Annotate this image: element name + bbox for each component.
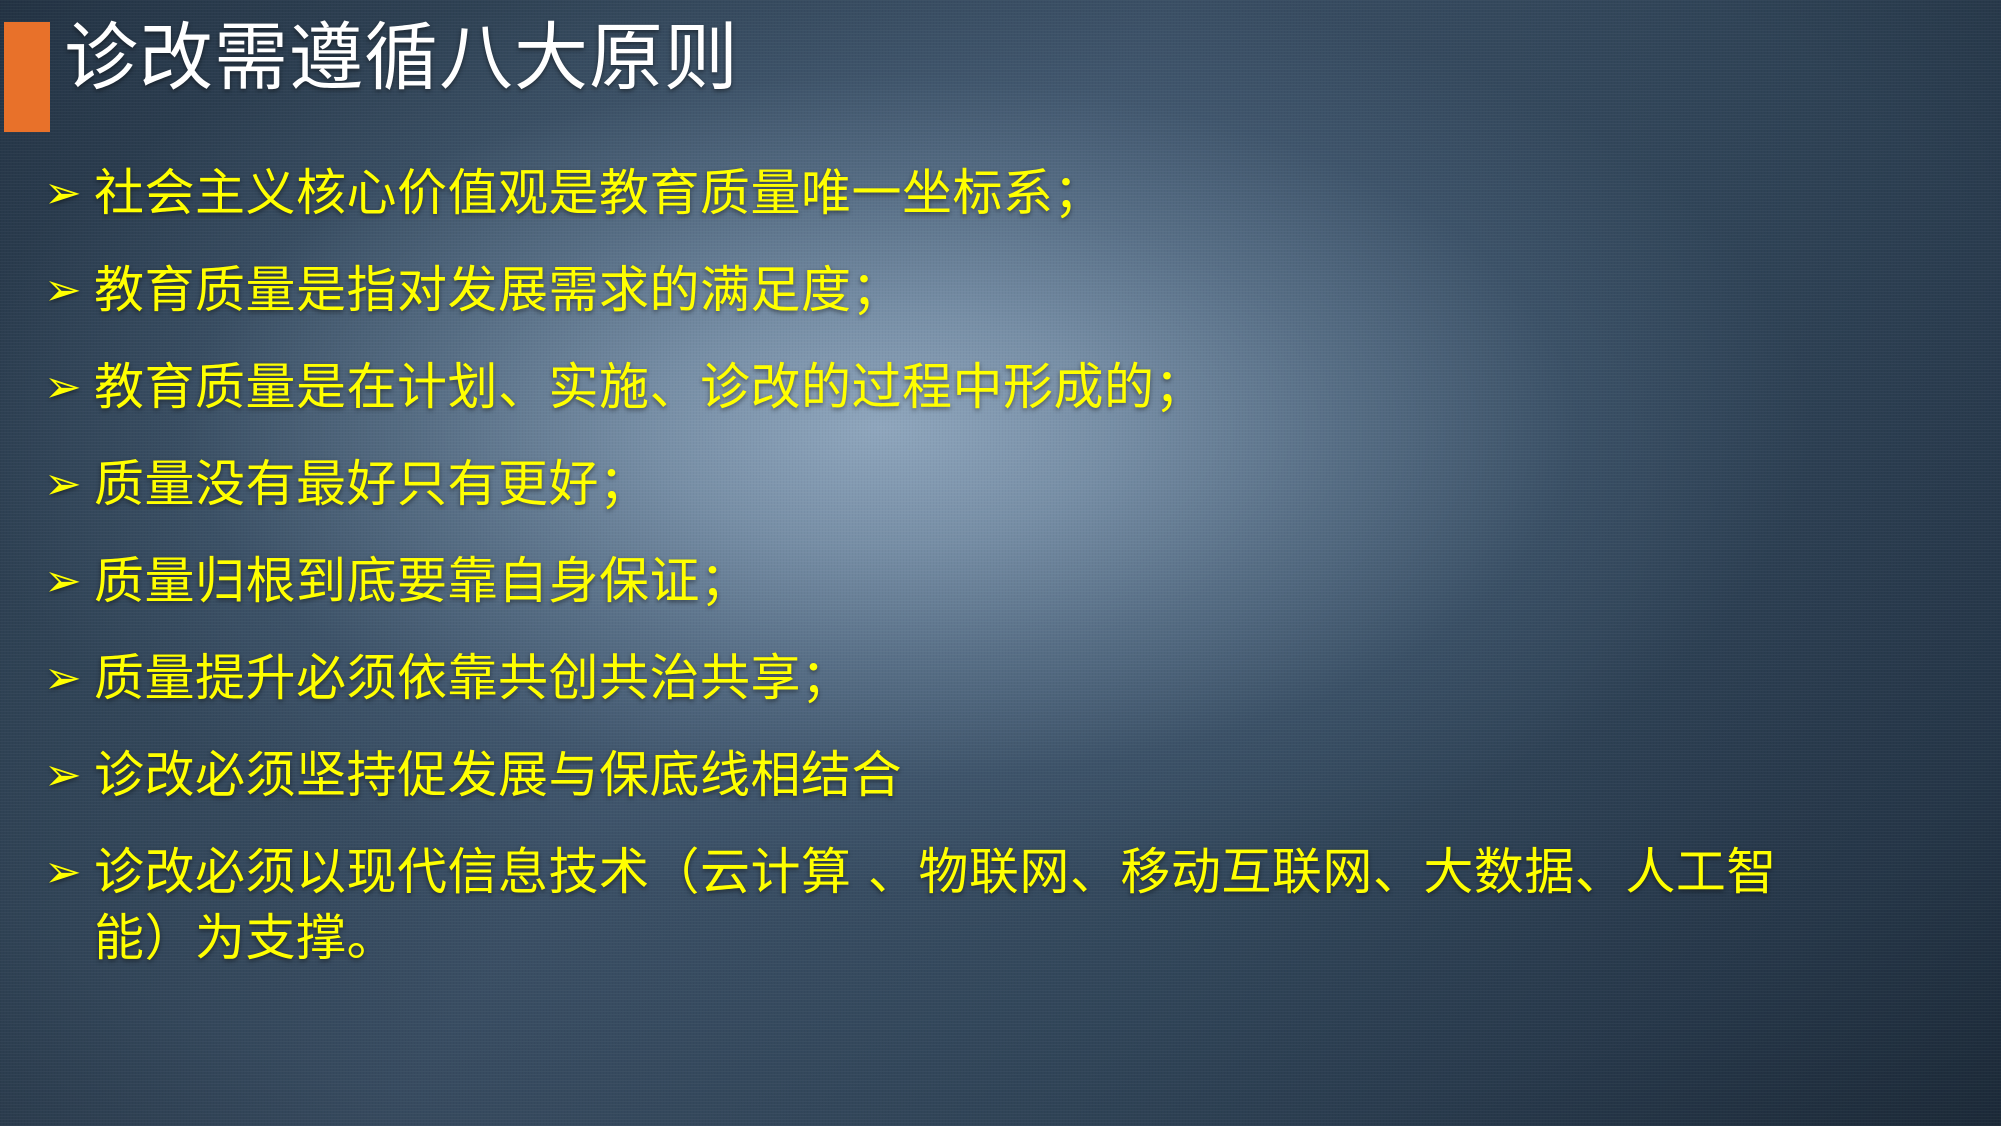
title-accent-bar xyxy=(4,22,50,132)
arrow-bullet-icon: ➢ xyxy=(38,160,94,226)
list-item-label: 质量提升必须依靠共创共治共享； xyxy=(94,645,1971,711)
arrow-bullet-icon: ➢ xyxy=(38,645,94,711)
bullet-list: ➢ 社会主义核心价值观是教育质量唯一坐标系； ➢ 教育质量是指对发展需求的满足度… xyxy=(38,160,1971,1002)
presentation-slide: 诊改需遵循八大原则 ➢ 社会主义核心价值观是教育质量唯一坐标系； ➢ 教育质量是… xyxy=(0,0,2001,1126)
page-title: 诊改需遵循八大原则 xyxy=(64,17,739,100)
list-item-label: 社会主义核心价值观是教育质量唯一坐标系； xyxy=(94,160,1971,226)
list-item: ➢ 教育质量是在计划、实施、诊改的过程中形成的； xyxy=(38,354,1971,420)
arrow-bullet-icon: ➢ xyxy=(38,451,94,517)
list-item-label: 诊改必须以现代信息技术（云计算 、物联网、移动互联网、大数据、人工智 能）为支撑… xyxy=(94,839,1971,971)
arrow-bullet-icon: ➢ xyxy=(38,354,94,420)
list-item-label: 教育质量是指对发展需求的满足度； xyxy=(94,257,1971,323)
list-item-label: 诊改必须坚持促发展与保底线相结合 xyxy=(94,742,1971,808)
arrow-bullet-icon: ➢ xyxy=(38,548,94,614)
list-item-label: 质量没有最好只有更好； xyxy=(94,451,1971,517)
arrow-bullet-icon: ➢ xyxy=(38,257,94,323)
list-item-label: 质量归根到底要靠自身保证； xyxy=(94,548,1971,614)
arrow-bullet-icon: ➢ xyxy=(38,742,94,808)
list-item: ➢ 教育质量是指对发展需求的满足度； xyxy=(38,257,1971,323)
list-item: ➢ 诊改必须以现代信息技术（云计算 、物联网、移动互联网、大数据、人工智 能）为… xyxy=(38,839,1971,971)
list-item: ➢ 诊改必须坚持促发展与保底线相结合 xyxy=(38,742,1971,808)
list-item: ➢ 质量提升必须依靠共创共治共享； xyxy=(38,645,1971,711)
list-item: ➢ 社会主义核心价值观是教育质量唯一坐标系； xyxy=(38,160,1971,226)
list-item-label-line2: 能）为支撑。 xyxy=(94,905,1971,971)
list-item-label: 教育质量是在计划、实施、诊改的过程中形成的； xyxy=(94,354,1971,420)
list-item-label-line1: 诊改必须以现代信息技术（云计算 、物联网、移动互联网、大数据、人工智 xyxy=(94,843,1777,901)
list-item: ➢ 质量归根到底要靠自身保证； xyxy=(38,548,1971,614)
arrow-bullet-icon: ➢ xyxy=(38,839,94,905)
list-item: ➢ 质量没有最好只有更好； xyxy=(38,451,1971,517)
